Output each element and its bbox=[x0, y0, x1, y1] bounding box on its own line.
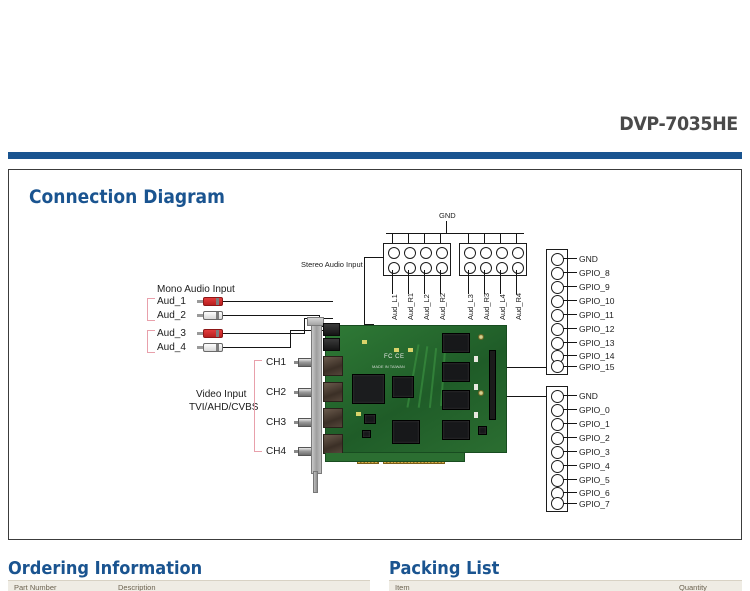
gpio-lower-lead-2 bbox=[563, 423, 577, 424]
pin-bot-l2 bbox=[404, 262, 416, 274]
mono-audio-bracket-lower bbox=[147, 330, 155, 353]
gpio-lower-lead-4 bbox=[563, 451, 577, 452]
rca-connector-aud4 bbox=[197, 343, 223, 352]
pcb-decoder-3 bbox=[442, 390, 470, 410]
gpio-lower-lead-7 bbox=[563, 492, 577, 493]
pcb-pad-2 bbox=[408, 348, 413, 352]
gpio-upper-label-2: GPIO_9 bbox=[579, 282, 610, 292]
gpio-upper-label-0: GND bbox=[579, 254, 598, 264]
gpio-upper-label-6: GPIO_13 bbox=[579, 338, 614, 348]
mono-audio-bracket-upper bbox=[147, 298, 155, 321]
rca-connector-aud3 bbox=[197, 329, 223, 338]
packing-col-item: Item bbox=[395, 583, 410, 591]
pcb-pad-5 bbox=[474, 384, 478, 390]
rca-body-aud2 bbox=[203, 311, 223, 320]
stereo-audio-input-label: Stereo Audio Input bbox=[301, 260, 363, 269]
rca-body-aud4 bbox=[203, 343, 223, 352]
mono-cable-3 bbox=[223, 333, 305, 334]
pcb-screw-mid-right bbox=[478, 390, 484, 396]
pin-top-l3 bbox=[420, 247, 432, 259]
gpio-lower-pin-4 bbox=[551, 446, 564, 459]
gpio-upper-pin-3 bbox=[551, 295, 564, 308]
pcb-audio-jack-2 bbox=[323, 338, 340, 351]
gpio-upper-lead-8 bbox=[563, 366, 577, 367]
pin-top-r2 bbox=[480, 247, 492, 259]
mono-cable-1 bbox=[223, 301, 333, 302]
aud-stem-r3 bbox=[500, 270, 501, 294]
gpio-upper-pin-4 bbox=[551, 309, 564, 322]
pcb-pad-1 bbox=[394, 348, 399, 352]
mono-cable-4 bbox=[223, 347, 291, 348]
pcb-decoder-1 bbox=[442, 333, 470, 353]
pcie-capture-card: FC CE MADE IN TAIWAN bbox=[299, 315, 507, 477]
stereo-audio-lead-h bbox=[364, 257, 384, 258]
gpio-lower-lead-0 bbox=[563, 395, 577, 396]
gpio-upper-pin-0 bbox=[551, 253, 564, 266]
gpio-upper-pin-2 bbox=[551, 281, 564, 294]
pin-top-l1 bbox=[388, 247, 400, 259]
aud-stem-r4 bbox=[516, 270, 517, 294]
aud-stem-l4 bbox=[440, 270, 441, 294]
pcb-pad-4 bbox=[474, 356, 478, 362]
gnd-bus-label: GND bbox=[439, 211, 456, 220]
mono-cable-4v bbox=[290, 330, 291, 348]
gpio-upper-pin-1 bbox=[551, 267, 564, 280]
pin-bot-l4 bbox=[436, 262, 448, 274]
packing-table-header: Item Quantity bbox=[389, 580, 742, 591]
aud-stem-l1 bbox=[392, 270, 393, 294]
gpio-upper-lead-1 bbox=[563, 272, 577, 273]
gpio-lower-label-2: GPIO_1 bbox=[579, 419, 610, 429]
pcb-video-conn-4 bbox=[323, 434, 343, 454]
pcb-main-chip bbox=[352, 374, 385, 404]
gpio-upper-label-1: GPIO_8 bbox=[579, 268, 610, 278]
pin-bot-r3 bbox=[496, 262, 508, 274]
rca-ring-aud4 bbox=[216, 344, 219, 351]
mono-audio-input-label: Mono Audio Input bbox=[157, 284, 235, 295]
rca-body-aud1 bbox=[203, 297, 223, 306]
rca-ring-aud1 bbox=[216, 298, 219, 305]
connection-diagram-panel: Connection Diagram GND Aud_L1 Aud_R1 Aud… bbox=[8, 169, 742, 540]
pin-bot-r2 bbox=[480, 262, 492, 274]
pcb-small-chip-a bbox=[364, 414, 376, 424]
rca-ring-aud3 bbox=[216, 330, 219, 337]
gpio-upper-pin-5 bbox=[551, 323, 564, 336]
ordering-col-part-number: Part Number bbox=[14, 583, 57, 591]
gpio-upper-lead-6 bbox=[563, 342, 577, 343]
mono-audio-port-0: Aud_1 bbox=[157, 296, 186, 307]
gpio-lower-lead-6 bbox=[563, 479, 577, 480]
aud-stem-l2 bbox=[408, 270, 409, 294]
pcb-small-chip-c bbox=[478, 426, 487, 435]
gpio-lower-pin-3 bbox=[551, 432, 564, 445]
pcb-decoder-2 bbox=[442, 362, 470, 382]
gpio-lower-label-0: GND bbox=[579, 391, 598, 401]
gpio-upper-label-7: GPIO_14 bbox=[579, 351, 614, 361]
video-channel-1: CH2 bbox=[266, 387, 286, 398]
gpio-lower-pin-5 bbox=[551, 460, 564, 473]
pcb-gpio-header-strip bbox=[489, 350, 496, 420]
gpio-lower-lead-3 bbox=[563, 437, 577, 438]
rca-connector-aud2 bbox=[197, 311, 223, 320]
page-model-title: DVP-7035HE bbox=[620, 113, 738, 135]
gpio-lower-pin-6 bbox=[551, 474, 564, 487]
pin-bot-r4 bbox=[512, 262, 524, 274]
pcb-certification-silkscreen: FC CE bbox=[384, 354, 405, 360]
ordering-information-heading: Ordering Information bbox=[8, 558, 202, 579]
gpio-lower-lead-8 bbox=[563, 503, 577, 504]
gpio-lower-pin-2 bbox=[551, 418, 564, 431]
gpio-upper-lead-0 bbox=[563, 258, 577, 259]
aud-stem-l3 bbox=[424, 270, 425, 294]
gpio-upper-label-3: GPIO_10 bbox=[579, 296, 614, 306]
gpio-upper-label-4: GPIO_11 bbox=[579, 310, 614, 320]
board-to-gpio-upper-wire bbox=[507, 367, 546, 368]
pcb-pad-7 bbox=[362, 340, 367, 344]
pin-top-r4 bbox=[512, 247, 524, 259]
pin-bot-l3 bbox=[420, 262, 432, 274]
pcb-origin-silkscreen: MADE IN TAIWAN bbox=[372, 364, 405, 369]
video-channel-0: CH1 bbox=[266, 357, 286, 368]
gpio-lower-label-4: GPIO_3 bbox=[579, 447, 610, 457]
aud-stem-r2 bbox=[484, 270, 485, 294]
gpio-lower-label-5: GPIO_4 bbox=[579, 461, 610, 471]
video-input-label-line2: TVI/AHD/CVBS bbox=[189, 402, 258, 413]
gnd-bus-rail bbox=[386, 233, 524, 234]
gpio-lower-lead-5 bbox=[563, 465, 577, 466]
pcb-trace-2 bbox=[418, 346, 429, 408]
pcb-video-conn-2 bbox=[323, 382, 343, 402]
mono-audio-port-3: Aud_4 bbox=[157, 342, 186, 353]
pcb-screw-top-right bbox=[478, 334, 484, 340]
video-channel-3: CH4 bbox=[266, 446, 286, 457]
video-channel-2: CH3 bbox=[266, 417, 286, 428]
pcb-small-chip-b bbox=[362, 430, 371, 438]
rca-ring-aud2 bbox=[216, 312, 219, 319]
aud-stem-r1 bbox=[468, 270, 469, 294]
pin-top-l4 bbox=[436, 247, 448, 259]
rca-connector-aud1 bbox=[197, 297, 223, 306]
gpio-upper-lead-5 bbox=[563, 328, 577, 329]
ordering-col-description: Description bbox=[118, 583, 156, 591]
pin-top-l2 bbox=[404, 247, 416, 259]
card-faceplate-tab bbox=[307, 317, 324, 326]
rca-body-aud3 bbox=[203, 329, 223, 338]
gpio-upper-pin-6 bbox=[551, 337, 564, 350]
gpio-lower-label-6: GPIO_5 bbox=[579, 475, 610, 485]
gpio-lower-lead-1 bbox=[563, 409, 577, 410]
pcb-trace-3 bbox=[429, 348, 437, 408]
pcb-lower-edge bbox=[325, 453, 465, 462]
pcb-audio-jack-1 bbox=[323, 323, 340, 336]
packing-list-heading: Packing List bbox=[389, 558, 499, 579]
gpio-lower-pin-0 bbox=[551, 390, 564, 403]
gpio-upper-lead-4 bbox=[563, 314, 577, 315]
pcb-chip-b bbox=[392, 376, 414, 398]
board-to-gpio-lower-wire bbox=[507, 396, 546, 397]
pin-bot-l1 bbox=[388, 262, 400, 274]
packing-col-quantity: Quantity bbox=[679, 583, 707, 591]
pcb-video-conn-3 bbox=[323, 408, 343, 428]
video-channel-bracket bbox=[254, 360, 262, 452]
gpio-lower-label-1: GPIO_0 bbox=[579, 405, 610, 415]
pcb-pad-3 bbox=[356, 412, 361, 416]
gpio-upper-label-5: GPIO_12 bbox=[579, 324, 614, 334]
gpio-upper-label-8: GPIO_15 bbox=[579, 362, 614, 372]
gpio-lower-pin-1 bbox=[551, 404, 564, 417]
video-input-label-line1: Video Input bbox=[196, 389, 246, 400]
pcb-pad-6 bbox=[474, 412, 478, 418]
gpio-upper-lead-2 bbox=[563, 286, 577, 287]
pin-top-r3 bbox=[496, 247, 508, 259]
gpio-upper-lead-3 bbox=[563, 300, 577, 301]
gpio-lower-label-7: GPIO_6 bbox=[579, 488, 610, 498]
gpio-lower-label-3: GPIO_2 bbox=[579, 433, 610, 443]
pin-bot-r1 bbox=[464, 262, 476, 274]
header-divider-bar bbox=[8, 152, 742, 159]
pin-top-r1 bbox=[464, 247, 476, 259]
pcb-substrate: FC CE MADE IN TAIWAN bbox=[325, 325, 507, 453]
ordering-table-header: Part Number Description bbox=[8, 580, 370, 591]
pcb-decoder-4 bbox=[442, 420, 470, 440]
pcb-chip-c bbox=[392, 420, 420, 444]
mono-audio-port-1: Aud_2 bbox=[157, 310, 186, 321]
card-faceplate-foot bbox=[313, 471, 318, 493]
connection-diagram-heading: Connection Diagram bbox=[29, 186, 225, 208]
gpio-upper-lead-7 bbox=[563, 355, 577, 356]
gpio-lower-label-8: GPIO_7 bbox=[579, 499, 610, 509]
audio-label-right-3: Aud_R4 bbox=[514, 293, 523, 320]
pcb-video-conn-1 bbox=[323, 356, 343, 376]
card-faceplate-bracket bbox=[311, 319, 322, 474]
mono-audio-port-2: Aud_3 bbox=[157, 328, 186, 339]
